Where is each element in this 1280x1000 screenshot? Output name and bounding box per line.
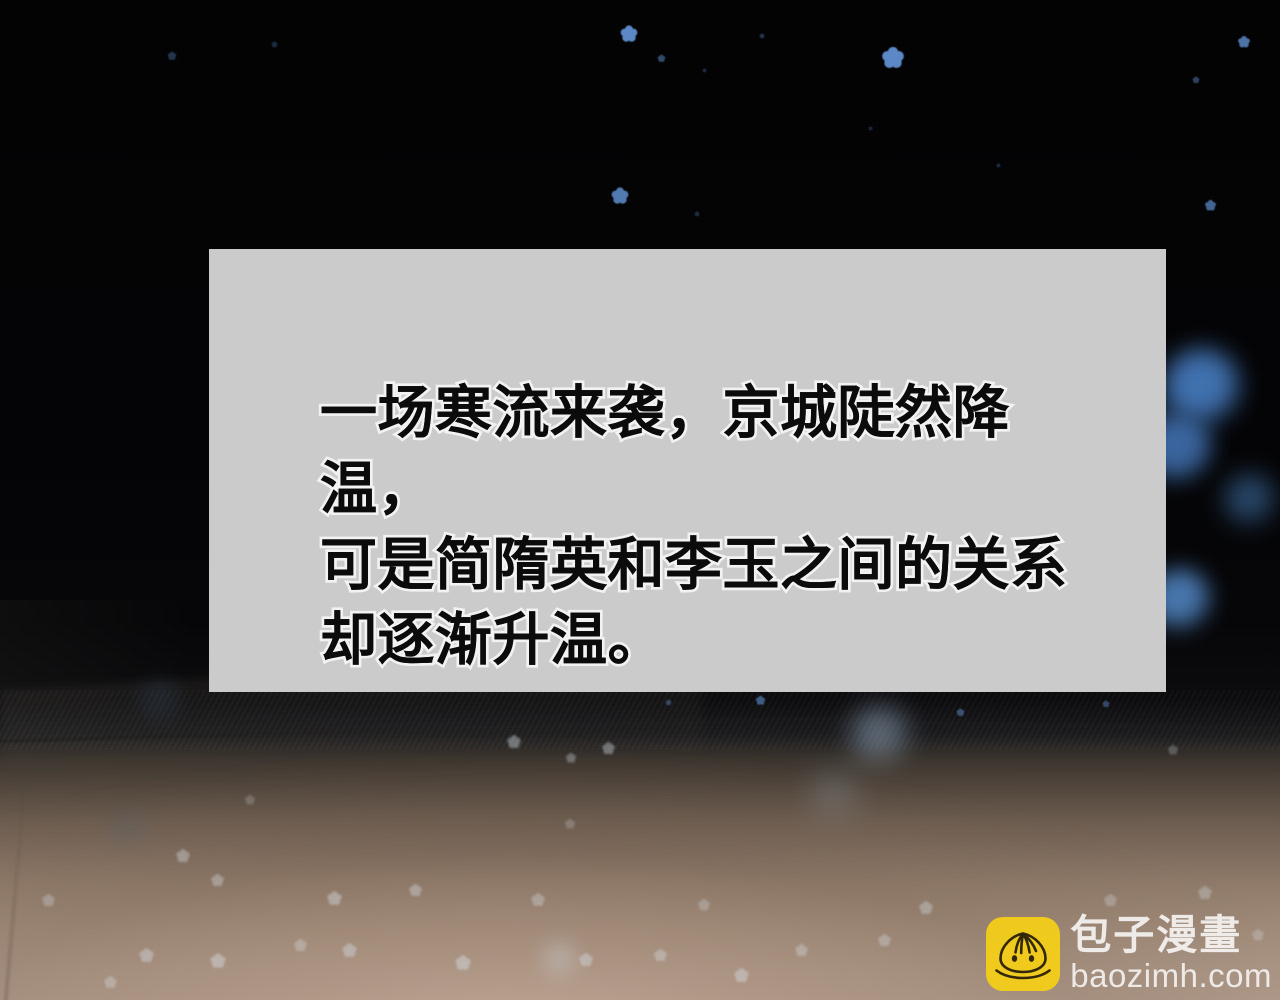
narration-text: 一场寒流来袭，京城陡然降温， 可是简隋英和李玉之间的关系 却逐渐升温。 (320, 376, 1110, 679)
watermark-url: baozimh.com (1070, 959, 1272, 992)
comic-panel-scene: 一场寒流来袭，京城陡然降温， 可是简隋英和李玉之间的关系 却逐渐升温。 一场寒流… (0, 0, 1280, 1000)
narration-panel: 一场寒流来袭，京城陡然降温， 可是简隋英和李玉之间的关系 却逐渐升温。 一场寒流… (209, 249, 1166, 692)
baozi-bun-icon (986, 917, 1060, 991)
watermark[interactable]: 包子漫畫 baozimh.com (986, 915, 1272, 992)
watermark-text: 包子漫畫 baozimh.com (1070, 915, 1272, 992)
watermark-brand-cn: 包子漫畫 (1070, 915, 1272, 956)
